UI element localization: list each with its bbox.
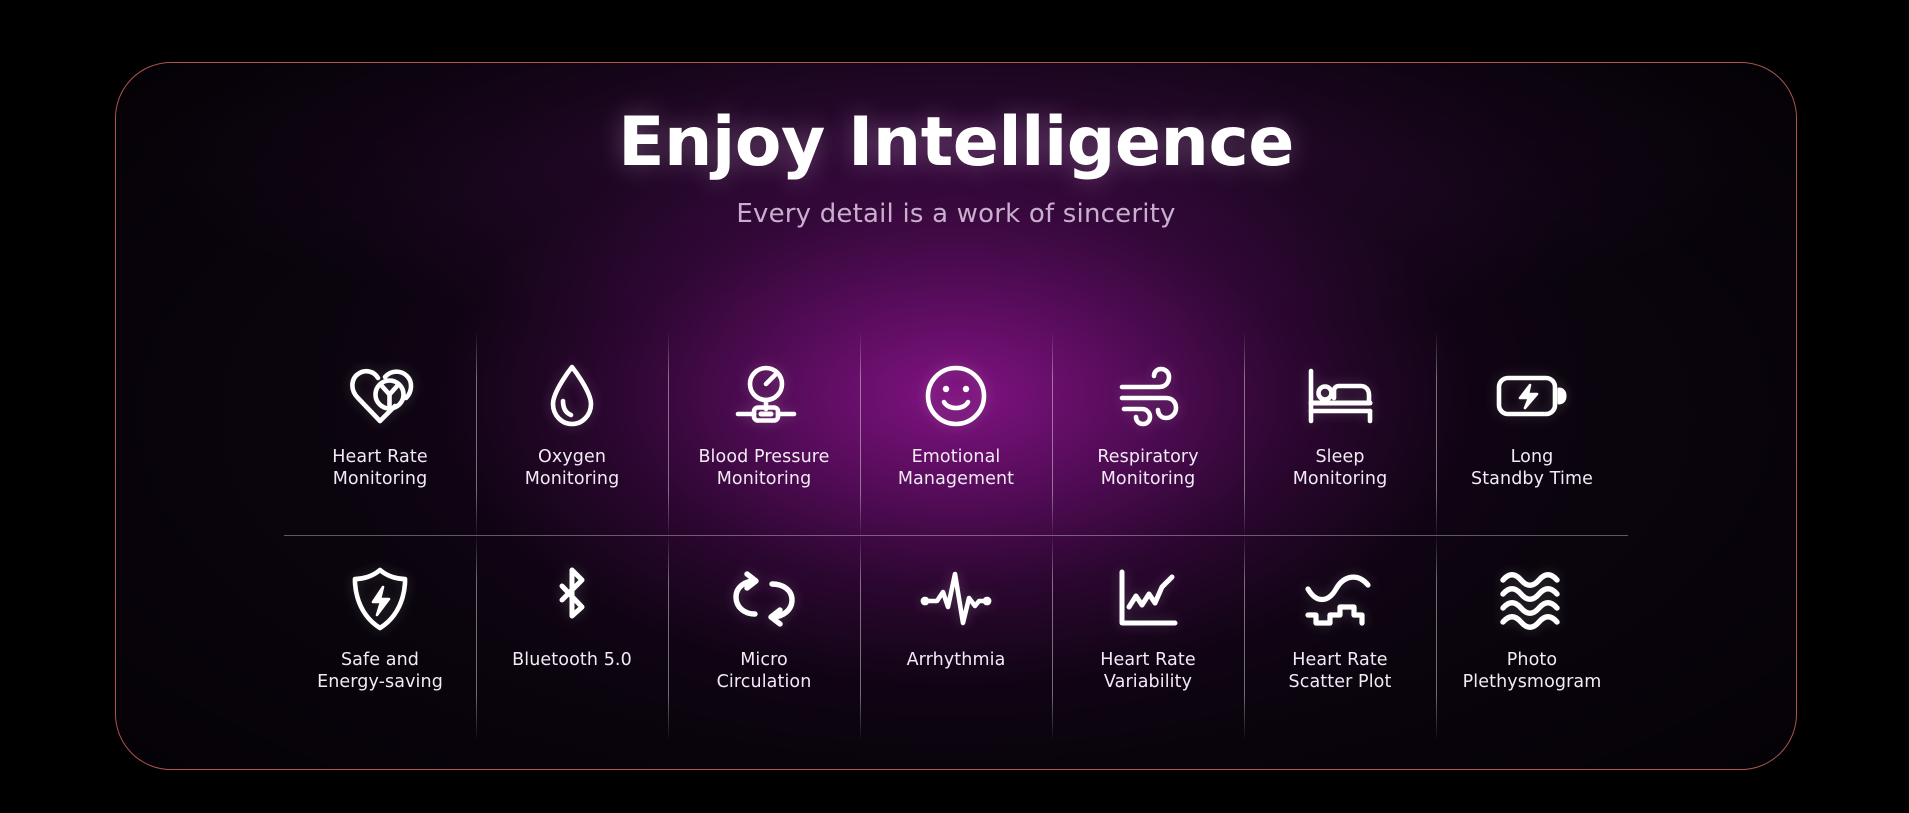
page-title: Enjoy Intelligence (116, 109, 1796, 177)
wind-icon (1114, 360, 1182, 432)
feature-item-heart-rate-scatter-plot[interactable]: Heart RateScatter Plot (1244, 554, 1436, 721)
feature-label: Blood PressureMonitoring (698, 446, 829, 491)
feature-item-bluetooth[interactable]: Bluetooth 5.0 (476, 554, 668, 721)
feature-label: Heart RateScatter Plot (1289, 649, 1392, 694)
feature-label: Heart RateVariability (1100, 649, 1195, 694)
blood-drop-icon (545, 360, 599, 432)
page-root: Enjoy Intelligence Every detail is a wor… (0, 0, 1909, 813)
feature-label: RespiratoryMonitoring (1097, 446, 1198, 491)
feature-item-respiratory-monitoring[interactable]: RespiratoryMonitoring (1052, 351, 1244, 518)
page-subtitle: Every detail is a work of sincerity (116, 199, 1796, 229)
line-chart-icon (1115, 563, 1181, 635)
ecg-pulse-icon (917, 563, 995, 635)
bed-icon (1304, 360, 1376, 432)
scatter-curve-icon (1302, 563, 1378, 635)
feature-item-photo-plethysmogram[interactable]: PhotoPlethysmogram (1436, 554, 1628, 721)
feature-item-heart-rate-variability[interactable]: Heart RateVariability (1052, 554, 1244, 721)
feature-item-micro-circulation[interactable]: MicroCirculation (668, 554, 860, 721)
heart-rate-icon (345, 360, 415, 432)
feature-item-arrhythmia[interactable]: Arrhythmia (860, 554, 1052, 721)
feature-label: SleepMonitoring (1293, 446, 1388, 491)
feature-card: Enjoy Intelligence Every detail is a wor… (115, 62, 1797, 770)
bluetooth-icon (550, 563, 594, 635)
smiley-face-icon (924, 360, 988, 432)
feature-item-safe-and-energy-saving[interactable]: Safe andEnergy-saving (284, 554, 476, 721)
feature-item-long-standby-time[interactable]: LongStandby Time (1436, 351, 1628, 518)
feature-label: Arrhythmia (907, 649, 1006, 671)
feature-item-sleep-monitoring[interactable]: SleepMonitoring (1244, 351, 1436, 518)
feature-label: OxygenMonitoring (525, 446, 620, 491)
card-content: Enjoy Intelligence Every detail is a wor… (116, 63, 1796, 769)
feature-label: LongStandby Time (1471, 446, 1593, 491)
feature-label: Bluetooth 5.0 (512, 649, 632, 671)
feature-item-emotional-management[interactable]: EmotionalManagement (860, 351, 1052, 518)
feature-item-oxygen-monitoring[interactable]: OxygenMonitoring (476, 351, 668, 518)
feature-item-blood-pressure-monitoring[interactable]: Blood PressureMonitoring (668, 351, 860, 518)
feature-grid: Heart RateMonitoring OxygenMonitoring (284, 351, 1628, 721)
shield-bolt-icon (349, 563, 411, 635)
feature-label: EmotionalManagement (898, 446, 1014, 491)
waves-icon (1497, 563, 1567, 635)
feature-label: Safe andEnergy-saving (317, 649, 443, 694)
feature-label: MicroCirculation (717, 649, 812, 694)
circulation-arrows-icon (727, 563, 801, 635)
feature-label: Heart RateMonitoring (332, 446, 427, 491)
feature-item-heart-rate-monitoring[interactable]: Heart RateMonitoring (284, 351, 476, 518)
blood-pressure-icon (728, 360, 800, 432)
header: Enjoy Intelligence Every detail is a wor… (116, 109, 1796, 229)
battery-bolt-icon (1494, 360, 1570, 432)
feature-label: PhotoPlethysmogram (1463, 649, 1602, 694)
